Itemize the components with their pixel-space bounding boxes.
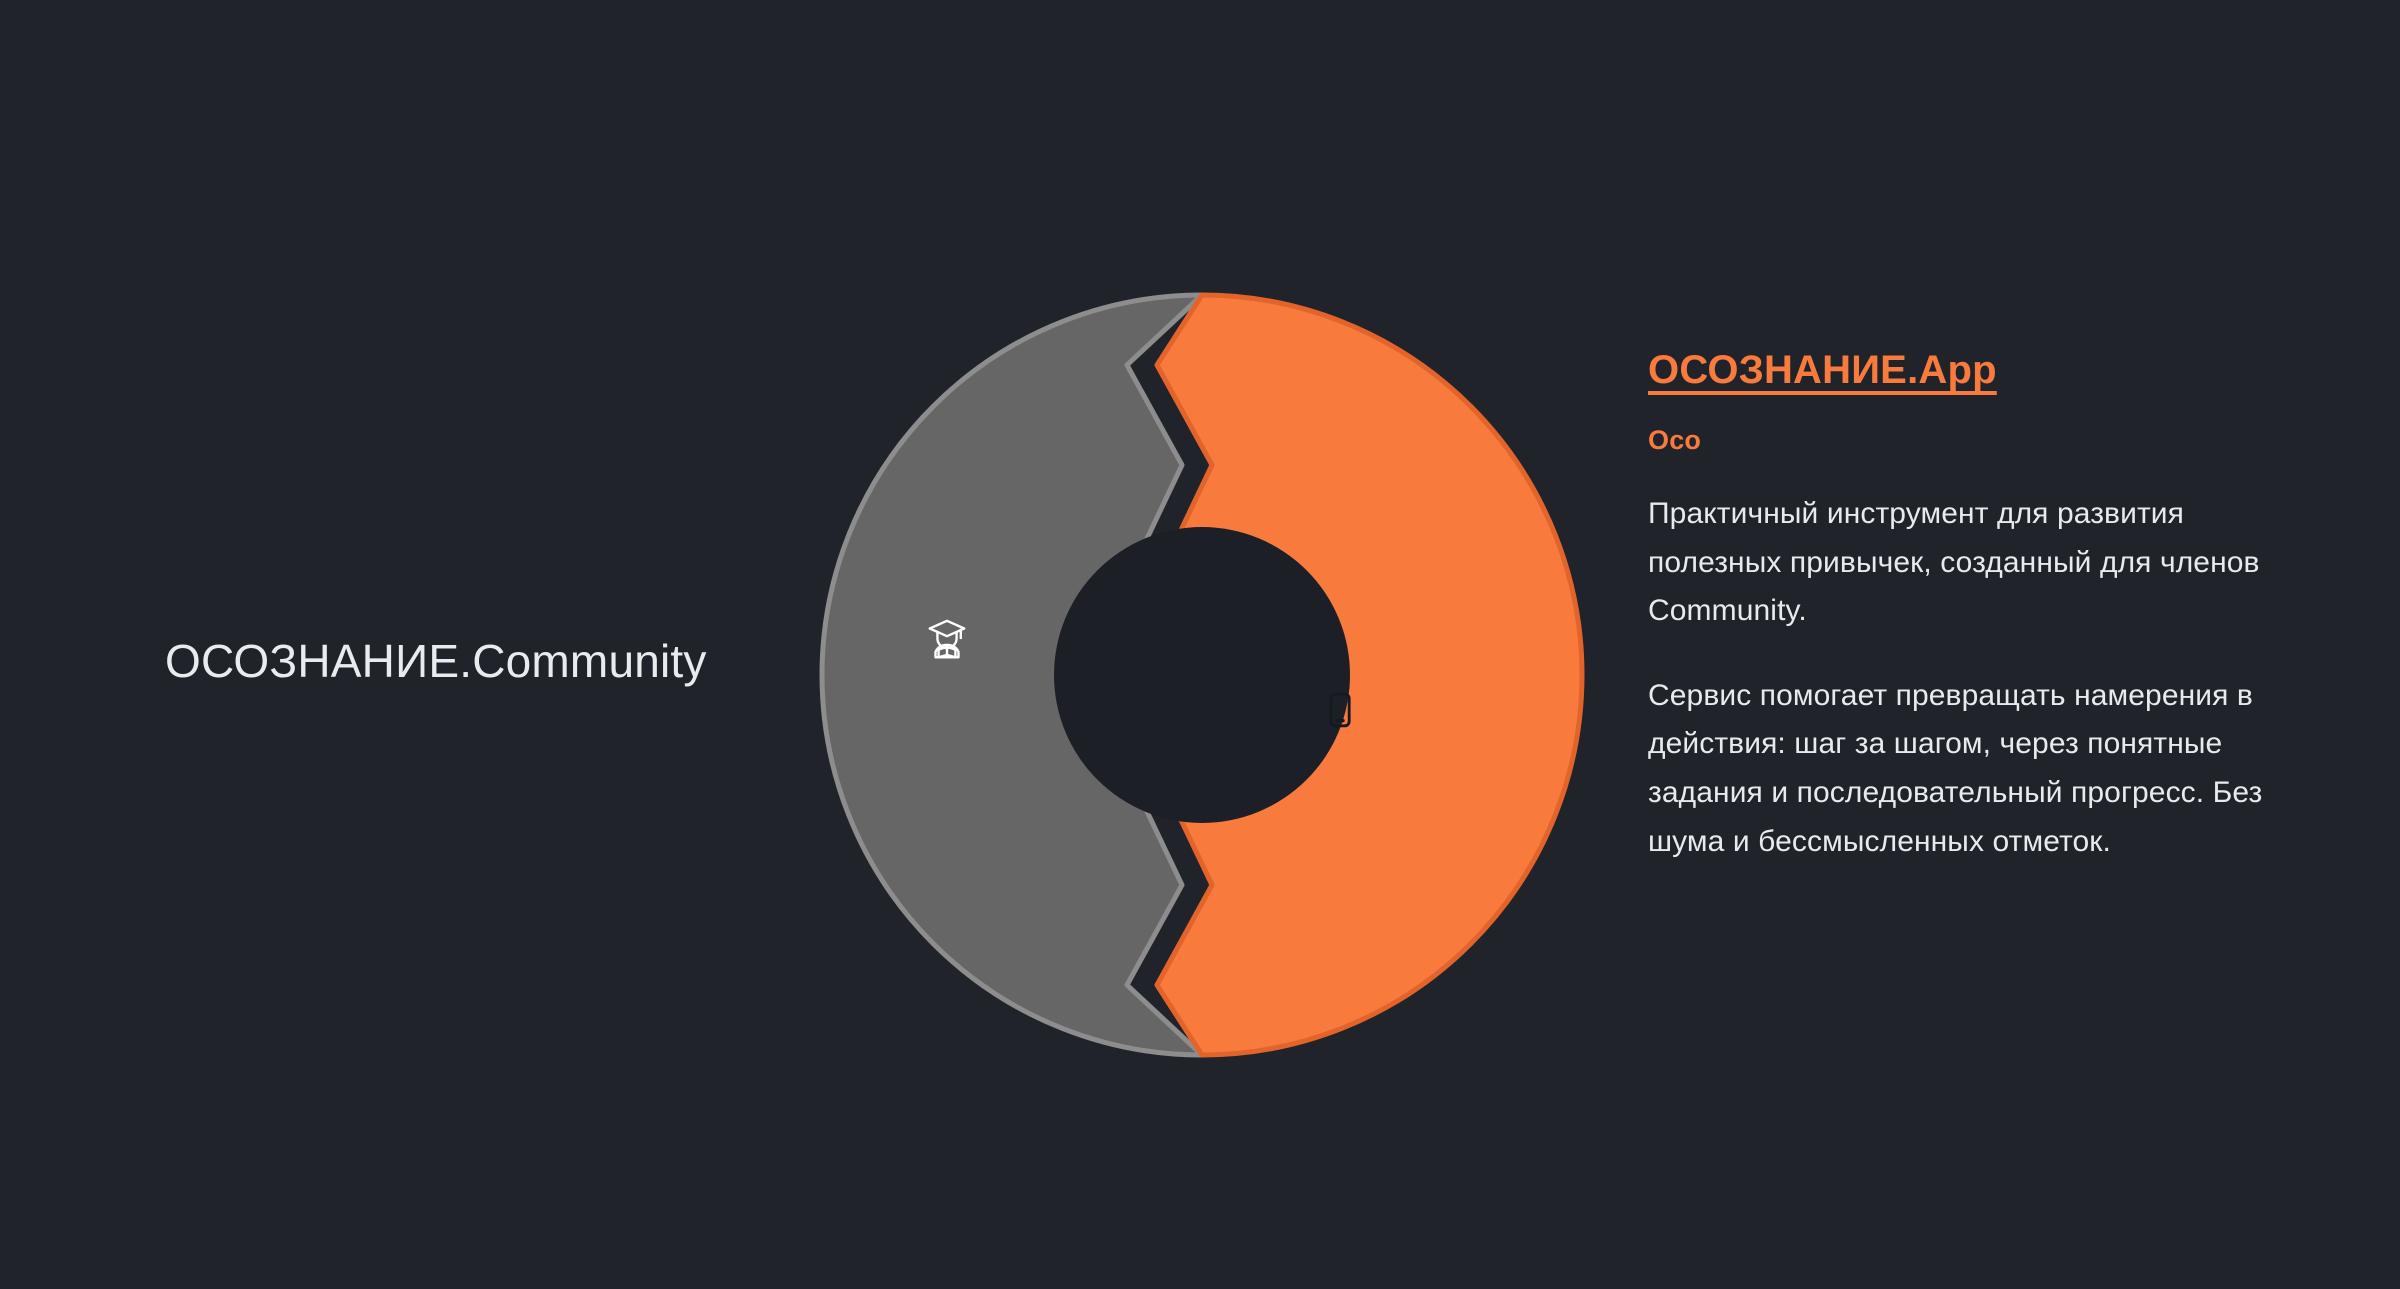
app-description-panel: ОСОЗНАНИЕ.App Осо Практичный инструмент …: [1648, 348, 2348, 866]
app-title-link[interactable]: ОСОЗНАНИЕ.App: [1648, 348, 1997, 393]
app-subtitle: Осо: [1648, 425, 2348, 456]
app-paragraph-1: Практичный инструмент для развития полез…: [1648, 490, 2268, 636]
community-label: ОСОЗНАНИЕ.Community: [165, 634, 825, 689]
donut-hole: [1054, 527, 1350, 823]
donut-chart: [812, 285, 1592, 1065]
app-paragraph-2: Сервис помогает превращать намерения в д…: [1648, 672, 2268, 866]
slide-canvas: ОСОЗНАНИЕ.Community: [0, 0, 2400, 1289]
donut-chart-svg: [812, 285, 1592, 1065]
